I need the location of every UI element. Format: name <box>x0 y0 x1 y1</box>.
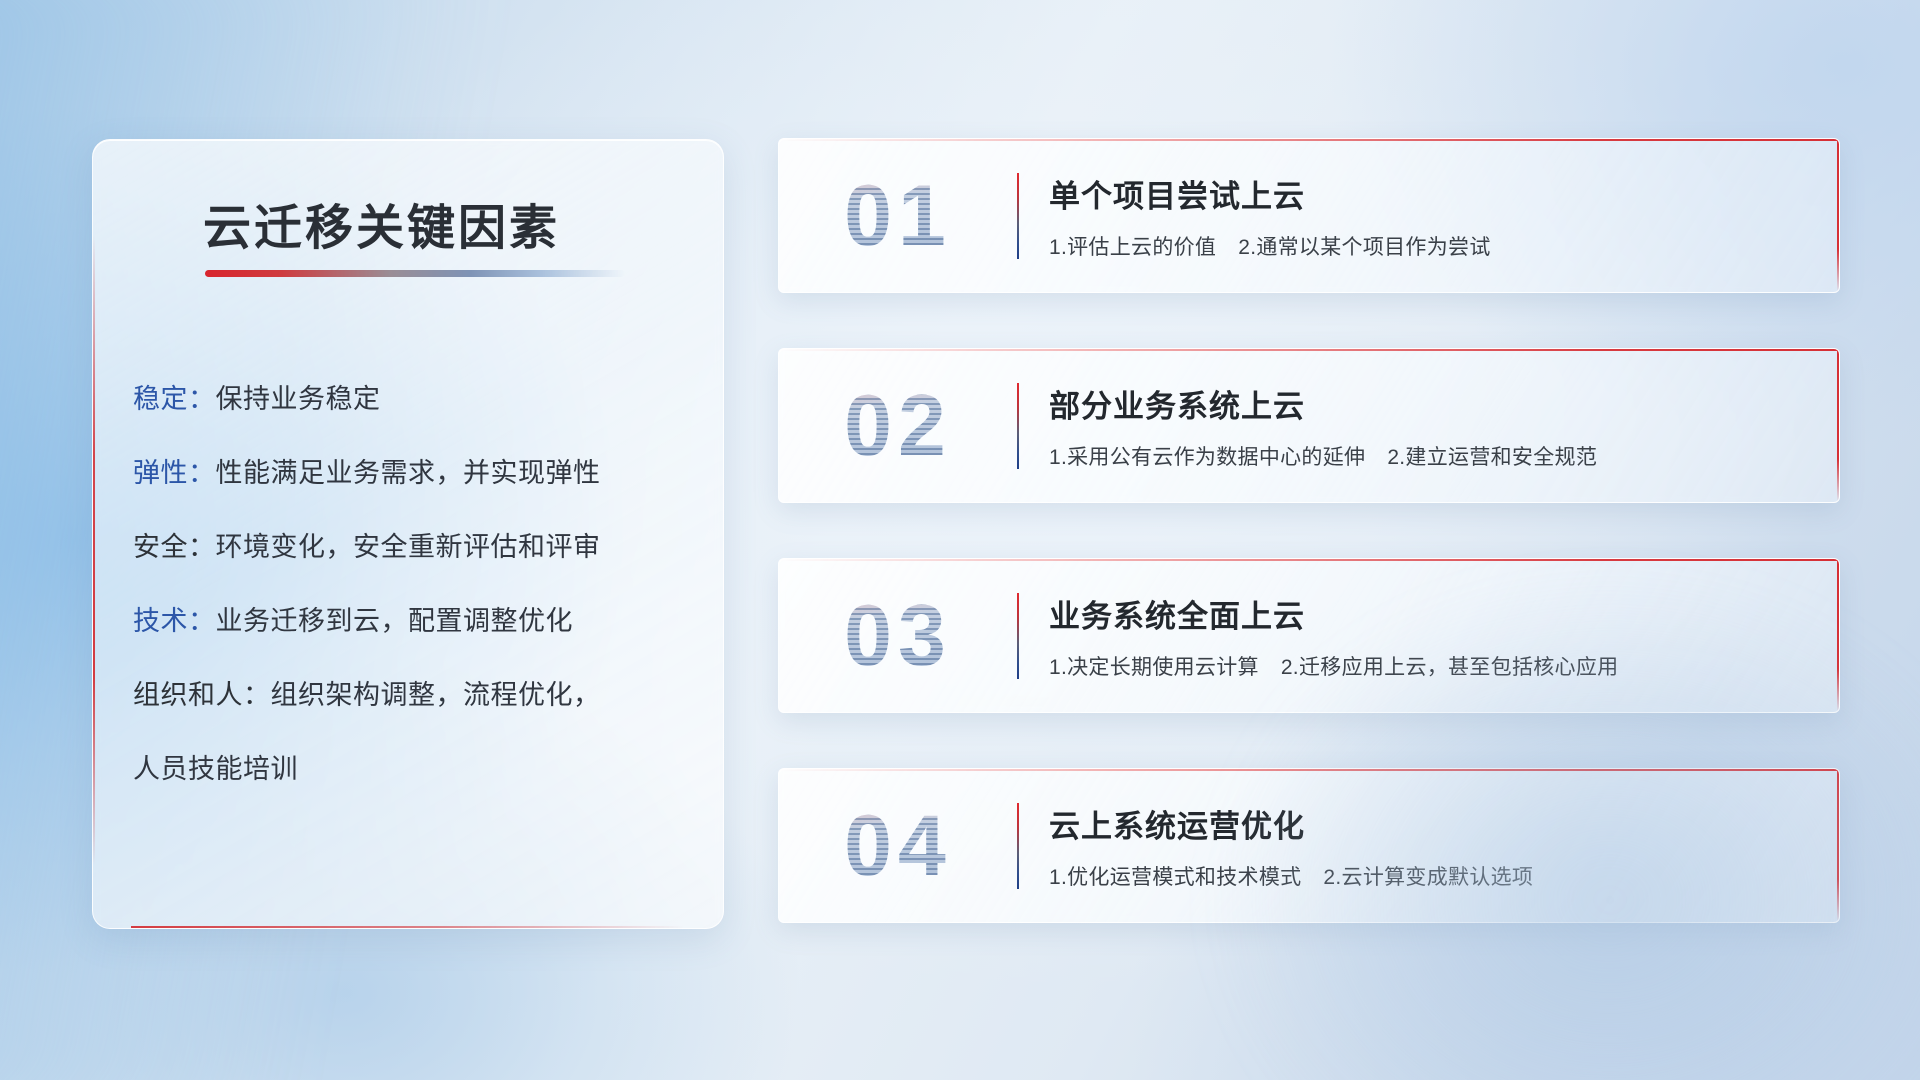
step-desc-part-1: 1.决定长期使用云计算 <box>1049 656 1259 679</box>
factor-row-organization: 组织和人：组织架构调整，流程优化， <box>133 658 697 732</box>
step-number-03: 03 <box>779 593 1017 679</box>
step-card-04[interactable]: 04 云上系统运营优化 1.优化运营模式和技术模式2.云计算变成默认选项 <box>778 768 1840 923</box>
factor-row-security: 安全：环境变化，安全重新评估和评审 <box>133 510 697 584</box>
key-factors-list: 稳定：保持业务稳定 弹性：性能满足业务需求，并实现弹性 安全：环境变化，安全重新… <box>133 362 697 806</box>
step-description-03: 1.决定长期使用云计算2.迁移应用上云，甚至包括核心应用 <box>1049 651 1813 681</box>
step-title-03: 业务系统全面上云 <box>1049 591 1813 636</box>
factor-row-technology: 技术：业务迁移到云，配置调整优化 <box>133 584 697 658</box>
factor-row-stability: 稳定：保持业务稳定 <box>133 362 697 436</box>
migration-steps-list: 01 单个项目尝试上云 1.评估上云的价值2.通常以某个项目作为尝试 02 部分… <box>778 138 1840 978</box>
step-number-01: 01 <box>779 173 1017 259</box>
step-text-block-02: 部分业务系统上云 1.采用公有云作为数据中心的延伸2.建立运营和安全规范 <box>1049 381 1839 471</box>
card-right-accent-line <box>1837 769 1839 922</box>
factor-label-stability: 稳定： <box>133 384 216 414</box>
key-factors-panel: 云迁移关键因素 稳定：保持业务稳定 弹性：性能满足业务需求，并实现弹性 安全：环… <box>92 139 724 929</box>
step-card-03[interactable]: 03 业务系统全面上云 1.决定长期使用云计算2.迁移应用上云，甚至包括核心应用 <box>778 558 1840 713</box>
step-description-02: 1.采用公有云作为数据中心的延伸2.建立运营和安全规范 <box>1049 441 1813 471</box>
step-divider-bar <box>1017 593 1019 679</box>
title-underline-gradient <box>205 270 625 277</box>
step-desc-part-1: 1.采用公有云作为数据中心的延伸 <box>1049 446 1365 469</box>
factor-label-elasticity: 弹性： <box>133 458 216 488</box>
step-number-02: 02 <box>779 383 1017 469</box>
card-right-accent-line <box>1837 349 1839 502</box>
card-top-accent-line <box>779 769 1839 771</box>
panel-left-accent-bar <box>93 235 95 865</box>
factor-value-elasticity: 性能满足业务需求，并实现弹性 <box>216 458 601 488</box>
step-desc-part-2: 2.建立运营和安全规范 <box>1387 446 1597 469</box>
step-card-02[interactable]: 02 部分业务系统上云 1.采用公有云作为数据中心的延伸2.建立运营和安全规范 <box>778 348 1840 503</box>
step-desc-part-2: 2.通常以某个项目作为尝试 <box>1238 236 1490 259</box>
step-text-block-04: 云上系统运营优化 1.优化运营模式和技术模式2.云计算变成默认选项 <box>1049 801 1839 891</box>
factor-row-elasticity: 弹性：性能满足业务需求，并实现弹性 <box>133 436 697 510</box>
card-top-accent-line <box>779 139 1839 141</box>
step-title-01: 单个项目尝试上云 <box>1049 171 1813 216</box>
step-card-01[interactable]: 01 单个项目尝试上云 1.评估上云的价值2.通常以某个项目作为尝试 <box>778 138 1840 293</box>
step-divider-bar <box>1017 383 1019 469</box>
step-desc-part-1: 1.评估上云的价值 <box>1049 236 1216 259</box>
step-text-block-01: 单个项目尝试上云 1.评估上云的价值2.通常以某个项目作为尝试 <box>1049 171 1839 261</box>
step-description-04: 1.优化运营模式和技术模式2.云计算变成默认选项 <box>1049 861 1813 891</box>
step-title-02: 部分业务系统上云 <box>1049 381 1813 426</box>
card-top-accent-line <box>779 559 1839 561</box>
factor-value-organization-continued: 人员技能培训 <box>133 732 697 806</box>
step-description-01: 1.评估上云的价值2.通常以某个项目作为尝试 <box>1049 231 1813 261</box>
step-number-04: 04 <box>779 803 1017 889</box>
factor-value-organization: 组织架构调整，流程优化， <box>271 680 601 710</box>
step-text-block-03: 业务系统全面上云 1.决定长期使用云计算2.迁移应用上云，甚至包括核心应用 <box>1049 591 1839 681</box>
factor-value-stability: 保持业务稳定 <box>216 384 381 414</box>
card-top-accent-line <box>779 349 1839 351</box>
step-divider-bar <box>1017 803 1019 889</box>
step-desc-part-1: 1.优化运营模式和技术模式 <box>1049 866 1301 889</box>
factor-label-security: 安全： <box>133 532 216 562</box>
factor-label-technology: 技术： <box>133 606 216 636</box>
step-desc-part-2: 2.迁移应用上云，甚至包括核心应用 <box>1281 656 1619 679</box>
step-divider-bar <box>1017 173 1019 259</box>
factor-label-organization: 组织和人： <box>133 680 271 710</box>
card-right-accent-line <box>1837 559 1839 712</box>
step-desc-part-2: 2.云计算变成默认选项 <box>1323 866 1533 889</box>
page-title: 云迁移关键因素 <box>203 188 560 258</box>
step-title-04: 云上系统运营优化 <box>1049 801 1813 846</box>
card-right-accent-line <box>1837 139 1839 292</box>
factor-value-security: 环境变化，安全重新评估和评审 <box>216 532 601 562</box>
factor-value-technology: 业务迁移到云，配置调整优化 <box>216 606 574 636</box>
panel-bottom-accent-bar <box>131 926 685 928</box>
slide-canvas: 云迁移关键因素 稳定：保持业务稳定 弹性：性能满足业务需求，并实现弹性 安全：环… <box>0 0 1920 1080</box>
